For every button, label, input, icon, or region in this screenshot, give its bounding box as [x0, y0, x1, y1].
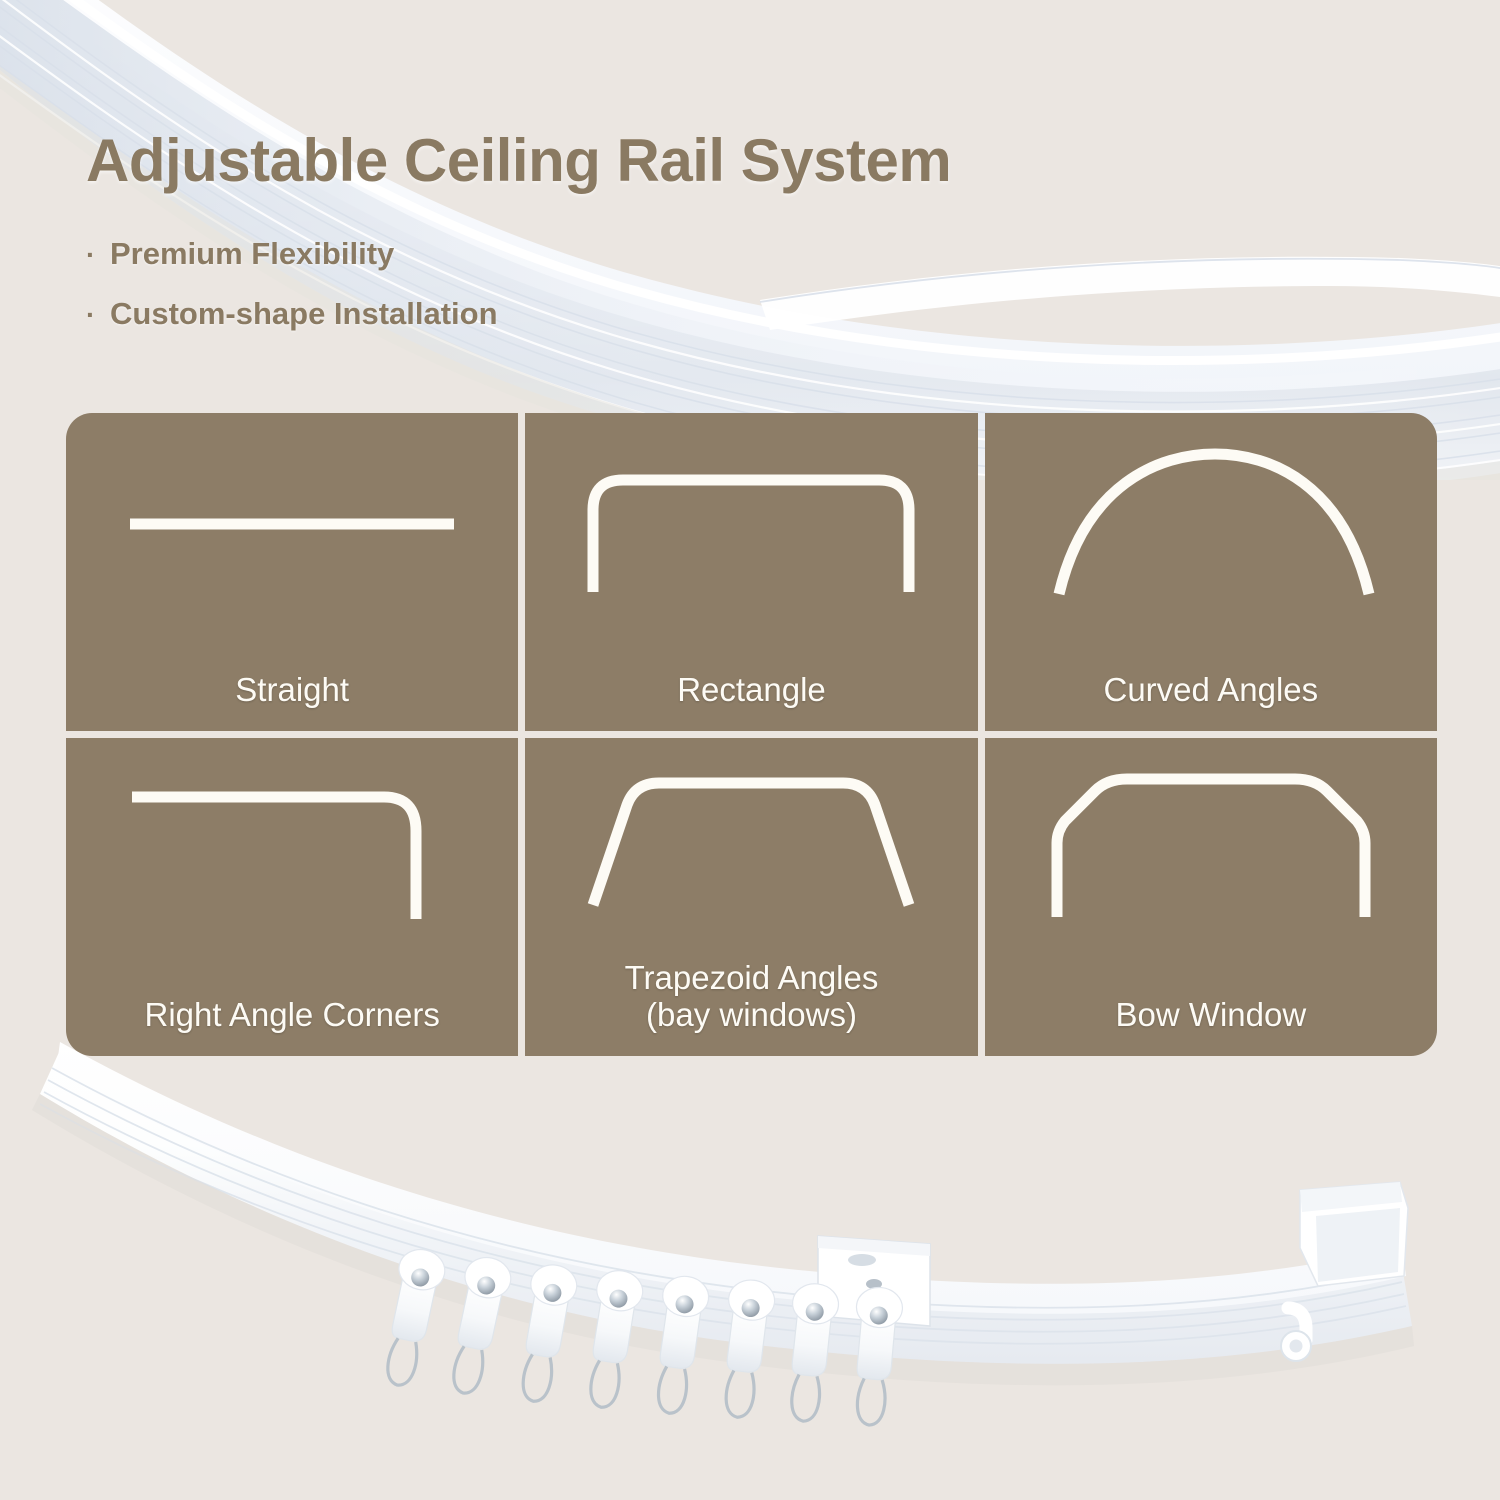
feature-bullet-list: · Premium Flexibility · Custom-shape Ins… — [86, 236, 786, 356]
infographic-page: Adjustable Ceiling Rail System · Premium… — [0, 0, 1500, 1500]
shape-label-bow-window: Bow Window — [985, 997, 1437, 1034]
shape-label-right-angle-corners: Right Angle Corners — [66, 997, 518, 1034]
end-hook — [1281, 1308, 1311, 1361]
shape-label-trapezoid-angles: Trapezoid Angles (bay windows) — [525, 960, 977, 1034]
bullet-item-1: · Custom-shape Installation — [86, 296, 786, 332]
shape-cell-straight: Straight — [66, 413, 518, 731]
trapezoid-angles-shape-icon — [525, 744, 977, 949]
bullet-label-1: Custom-shape Installation — [110, 296, 498, 332]
shape-label-rectangle: Rectangle — [525, 672, 977, 709]
curved-rail-with-carriers-photo — [0, 1040, 1500, 1500]
shape-label-straight: Straight — [66, 672, 518, 709]
shape-label-curved-angles: Curved Angles — [985, 672, 1437, 709]
rectangle-shape-icon — [525, 419, 977, 624]
shape-cell-bow-window: Bow Window — [985, 738, 1437, 1056]
bow-window-shape-icon — [985, 744, 1437, 949]
bullet-dot-icon: · — [86, 301, 110, 329]
roller-carrier-group — [375, 1245, 904, 1427]
bullet-item-0: · Premium Flexibility — [86, 236, 786, 272]
page-title: Adjustable Ceiling Rail System — [86, 126, 951, 195]
right-angle-corners-shape-icon — [66, 744, 518, 949]
shape-cell-rectangle: Rectangle — [525, 413, 977, 731]
shape-label-trapezoid-main: Trapezoid Angles — [625, 959, 879, 996]
bullet-dot-icon: · — [86, 241, 110, 269]
straight-shape-icon — [66, 419, 518, 624]
rail-end-cap — [1300, 1182, 1408, 1286]
shape-cell-curved-angles: Curved Angles — [985, 413, 1437, 731]
shape-cell-right-angle-corners: Right Angle Corners — [66, 738, 518, 1056]
shape-label-trapezoid-sub: (bay windows) — [533, 997, 969, 1034]
bullet-label-0: Premium Flexibility — [110, 236, 394, 272]
shape-options-grid: Straight Rectangle Curved Angles — [66, 413, 1437, 1056]
shape-cell-trapezoid-angles: Trapezoid Angles (bay windows) — [525, 738, 977, 1056]
mount-bracket — [818, 1236, 930, 1326]
curved-angles-shape-icon — [985, 419, 1437, 624]
